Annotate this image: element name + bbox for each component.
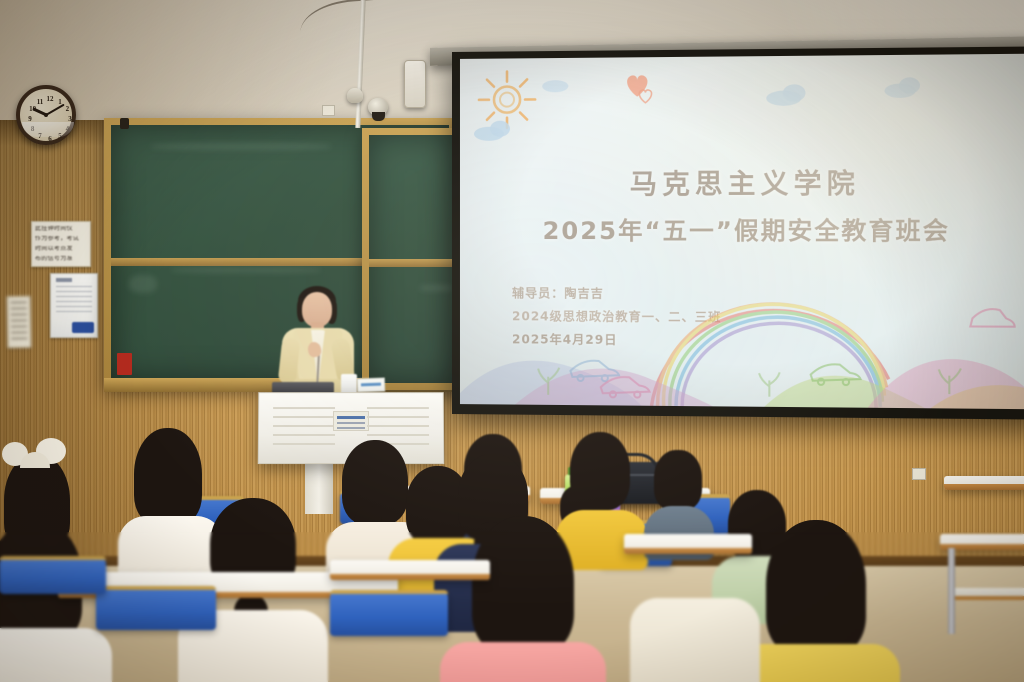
student-hair — [4, 454, 70, 550]
wall-clock: 121234567891011 — [16, 85, 76, 145]
paper-cup — [341, 374, 357, 394]
student-front-right — [752, 520, 880, 682]
wall-speaker-left — [404, 60, 426, 108]
chalk-smudge — [419, 285, 453, 291]
student-row3-right — [648, 450, 708, 546]
board-red-card — [117, 353, 132, 375]
clock-glass-glare — [22, 122, 74, 137]
sun-icon — [476, 68, 538, 131]
poster-badge — [72, 322, 94, 333]
chair-front-mid[interactable] — [330, 590, 448, 636]
chalk-smudge — [129, 275, 157, 293]
student-torso — [736, 644, 900, 682]
wall-socket-plate — [912, 468, 926, 480]
clock-numeral: 2 — [66, 105, 70, 113]
student-torso — [440, 642, 606, 682]
podium-panel-left — [273, 407, 335, 452]
desk-leg — [948, 548, 955, 634]
blackboard-side — [362, 128, 460, 390]
desk-edge — [624, 548, 752, 554]
classroom-scene: 121234567891011 此挂钟时间仅 作为参考，考试 时间以考点发 布的… — [0, 0, 1024, 682]
slide-title: 马克思主义学院 — [460, 161, 1024, 202]
ceiling-camera-left — [347, 88, 363, 103]
chair-trim — [96, 586, 216, 590]
projector-screen-surface: 马克思主义学院 2025年“五一”假期安全教育班会 辅导员：陶吉吉 2024级思… — [460, 54, 1024, 410]
chair-front-left[interactable] — [96, 586, 216, 630]
desk-right-back — [944, 476, 1024, 490]
student-torso — [0, 628, 112, 682]
camera-lens-icon — [372, 112, 385, 121]
student-front-pink — [456, 516, 586, 682]
heart-icon — [611, 69, 660, 110]
student-hair — [654, 450, 702, 510]
blackboard-surface-side — [369, 135, 453, 383]
desk-front-mid — [330, 560, 490, 580]
cloud-icon — [783, 84, 806, 101]
wall-side-note — [7, 296, 32, 348]
desk-right-shelf — [952, 588, 1024, 600]
desk-edge — [330, 574, 490, 580]
chair-trim — [0, 556, 106, 560]
notice-line-4: 布的信号为准 — [35, 256, 87, 262]
wall-sensor — [120, 118, 129, 129]
student-bear-headband — [0, 436, 84, 556]
podium-document — [357, 378, 385, 393]
student-front-cream — [630, 598, 750, 682]
podium-logo — [333, 411, 369, 431]
hills-rainbow-illustration — [460, 274, 1024, 409]
clock-numeral: 12 — [47, 95, 54, 103]
chalk-smudge — [171, 267, 321, 273]
exam-clock-notice: 此挂钟时间仅 作为参考，考试 时间以考点发 布的信号为准 — [31, 221, 91, 267]
cloud-icon — [542, 80, 568, 92]
notice-line-2: 作为参考，考试 — [35, 236, 87, 242]
student-hair — [766, 520, 866, 654]
desk-edge — [944, 484, 1024, 490]
notice-line-1: 此挂钟时间仅 — [35, 226, 87, 232]
desk-mid-right — [624, 534, 752, 554]
student-torso — [630, 598, 760, 682]
chalk-smudge — [151, 143, 331, 150]
poster-logo — [56, 278, 72, 282]
chair-trim — [330, 590, 448, 594]
student-hair — [472, 516, 574, 652]
wall-poster — [50, 273, 98, 338]
poster-text-lines — [56, 286, 92, 316]
chair-front-far-left[interactable] — [0, 556, 106, 594]
wall-socket-plate — [322, 105, 335, 116]
cloud-icon — [490, 121, 510, 137]
slide-subtitle: 2025年“五一”假期安全教育班会 — [460, 210, 1024, 246]
projector-screen: 马克思主义学院 2025年“五一”假期安全教育班会 辅导员：陶吉吉 2024级思… — [452, 46, 1024, 419]
blackboard-side-rail — [369, 259, 453, 267]
car-icon — [970, 309, 1014, 327]
clock-center-pin — [44, 113, 48, 117]
presentation-slide: 马克思主义学院 2025年“五一”假期安全教育班会 辅导员：陶吉吉 2024级思… — [460, 54, 1024, 410]
cloud-icon — [899, 77, 920, 94]
clock-numeral: 11 — [37, 98, 44, 106]
notice-line-3: 时间以考点发 — [35, 246, 87, 252]
